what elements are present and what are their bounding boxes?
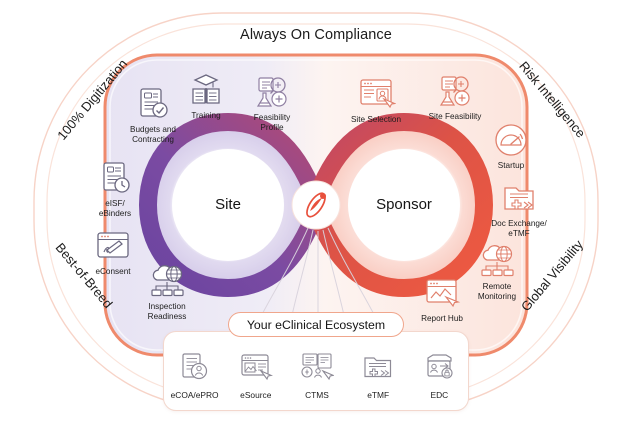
eco-item-label: eCOA/ePRO [171,390,219,400]
folder-exchange-icon [499,180,539,216]
database-user-lock-icon [422,352,456,382]
flask-magnifier-plus-icon [435,73,475,109]
node-label: Report Hub [398,314,486,324]
chart-cursor-icon [422,275,462,311]
folder-exchange-icon [361,352,395,382]
eco-item-etmf[interactable]: eTMF [350,352,406,403]
node-label: Inspection Readiness [123,302,211,321]
eco-item-label: eSource [240,390,271,400]
node-startup[interactable]: Startup [467,122,555,171]
ecosystem-title: Your eClinical Ecosystem [228,312,404,337]
eco-item-edc[interactable]: EDC [411,352,467,403]
node-feasibility-profile[interactable]: Feasibility Profile [228,74,316,132]
ecosystem-panel: eCOA/ePRO eSource [163,331,469,411]
node-label: Startup [467,161,555,171]
eco-item-ecoa-epro[interactable]: eCOA/ePRO [167,352,223,403]
eco-item-label: EDC [431,390,449,400]
sponsor-loop-caption: Sponsor [344,196,464,213]
speedometer-icon [491,122,531,158]
eco-item-esource[interactable]: eSource [228,352,284,403]
infographic-canvas: Always On Compliance 100% Digitization R… [0,0,632,421]
node-label: Doc Exchange/ eTMF [475,219,563,238]
node-label: Feasibility Profile [228,113,316,132]
eco-item-ctms[interactable]: CTMS [289,352,345,403]
flask-magnifier-plus-icon [252,74,292,110]
signature-pen-icon [93,228,133,264]
ecosystem-item-list: eCOA/ePRO eSource [164,352,470,403]
node-label: Site Selection [332,115,420,125]
node-site-feasibility[interactable]: Site Feasibility [411,73,499,122]
dashboard-people-cursor-icon [300,352,334,382]
node-site-selection[interactable]: Site Selection [332,76,420,125]
cloud-network-icon [147,263,187,299]
eco-item-label: eTMF [367,390,389,400]
node-doc-exchange-etmf[interactable]: Doc Exchange/ eTMF [475,180,563,238]
form-user-lock-icon [178,352,212,382]
node-label: Budgets and Contracting [109,125,197,144]
browser-profile-cursor-icon [356,76,396,112]
cloud-network-icon [477,243,517,279]
graduation-book-icon [186,72,226,108]
site-loop-caption: Site [168,196,288,213]
page-title: Always On Compliance [0,27,632,43]
node-label: Site Feasibility [411,112,499,122]
node-eisf-ebinders[interactable]: eISF/ eBinders [71,160,159,218]
node-label: eISF/ eBinders [71,199,159,218]
node-inspection-readiness[interactable]: Inspection Readiness [123,263,211,321]
document-clock-icon [95,160,135,196]
node-report-hub[interactable]: Report Hub [398,275,486,324]
eco-item-label: CTMS [305,390,329,400]
browser-image-cursor-icon [239,352,273,382]
